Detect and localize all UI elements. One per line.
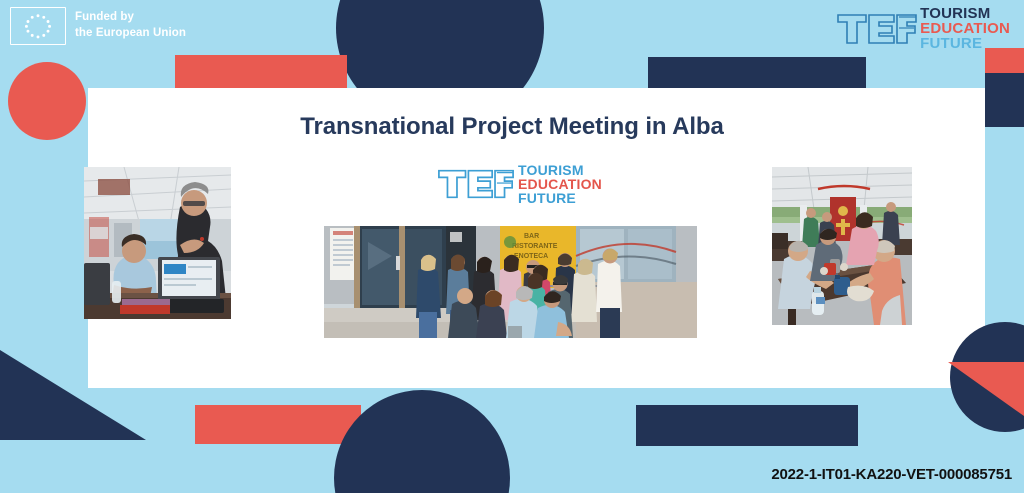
svg-text:BAR: BAR bbox=[524, 233, 539, 240]
eu-funding-text: Funded by the European Union bbox=[75, 10, 186, 41]
photo-group-outside-building: BAR RISTORANTE ENOTECA bbox=[324, 226, 697, 338]
tef-word-education: EDUCATION bbox=[518, 177, 602, 191]
photo-workshop-laptops bbox=[84, 167, 231, 319]
page-title: Transnational Project Meeting in Alba bbox=[0, 113, 1024, 141]
tef-logo-center: TOURISM EDUCATION FUTURE bbox=[437, 163, 602, 205]
project-code: 2022-1-IT01-KA220-VET-000085751 bbox=[771, 466, 1012, 483]
tef-word-future: FUTURE bbox=[518, 191, 602, 205]
tef-word-education: EDUCATION bbox=[920, 21, 1010, 36]
tef-monogram-icon bbox=[836, 12, 918, 46]
decor-red-block-right bbox=[985, 48, 1024, 73]
decor-red-bar-bottom bbox=[195, 405, 361, 444]
tef-logo-header: TOURISM EDUCATION FUTURE bbox=[836, 6, 1010, 51]
decor-navy-bar-bottom-right bbox=[636, 405, 858, 446]
svg-text:RISTORANTE: RISTORANTE bbox=[512, 243, 558, 250]
photo-dining-restaurant bbox=[772, 167, 912, 325]
tef-monogram-icon bbox=[437, 166, 515, 202]
decor-red-bar-top-left bbox=[175, 55, 347, 88]
tef-word-future: FUTURE bbox=[920, 36, 1010, 51]
slide-canvas: Funded by the European Union TOURISM EDU… bbox=[0, 0, 1024, 493]
eu-flag-icon bbox=[10, 7, 66, 45]
svg-text:ENOTECA: ENOTECA bbox=[514, 253, 548, 260]
eu-funding-badge: Funded by the European Union bbox=[10, 7, 186, 45]
tef-word-tourism: TOURISM bbox=[518, 163, 602, 177]
tef-word-tourism: TOURISM bbox=[920, 6, 1010, 21]
